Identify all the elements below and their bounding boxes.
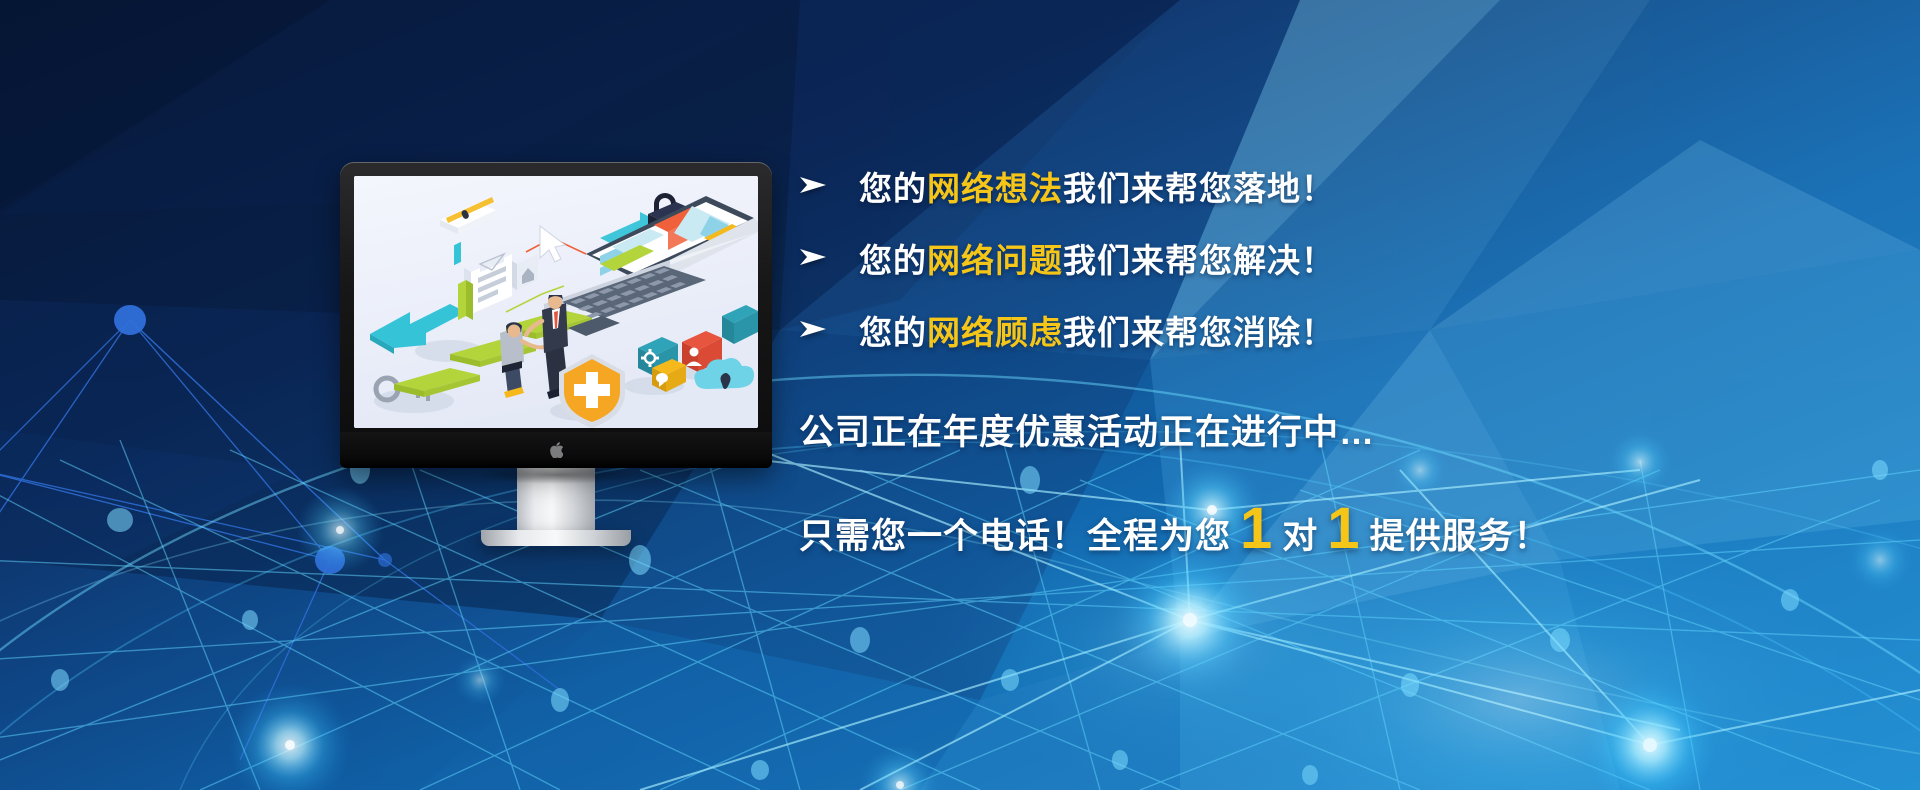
promo-line-2: 只需您一个电话！全程为您 1 对 1 提供服务！ [799, 503, 1835, 559]
arrow-right-icon [795, 173, 835, 199]
bullet-row-2: 您的网络问题我们来帮您解决！ [795, 222, 1835, 294]
promo-line-1: 公司正在年度优惠活动正在进行中… [799, 404, 1835, 455]
imac-monitor [340, 162, 772, 546]
monitor-foot [481, 530, 631, 546]
bullet-text-2: 您的网络问题我们来帮您解决！ [859, 234, 1335, 282]
monitor-bezel [340, 162, 772, 468]
bullet-prefix-3: 您的 [859, 314, 927, 351]
bullet-prefix-1: 您的 [859, 170, 927, 207]
bullet-suffix-2: 我们来帮您解决！ [1063, 242, 1335, 279]
bullet-text-3: 您的网络顾虑我们来帮您消除！ [859, 306, 1335, 354]
bullet-text-1: 您的网络想法我们来帮您落地！ [859, 162, 1335, 210]
bullet-highlight-1: 网络想法 [927, 170, 1063, 207]
monitor-chin [340, 432, 772, 468]
bullet-prefix-2: 您的 [859, 242, 927, 279]
bullet-row-1: 您的网络想法我们来帮您落地！ [795, 150, 1835, 222]
bullet-suffix-1: 我们来帮您落地！ [1063, 170, 1335, 207]
promo-separator-word: 对 [1282, 508, 1318, 559]
monitor-screen [354, 176, 758, 428]
arrow-right-icon [795, 245, 835, 271]
promo-banner: 您的网络想法我们来帮您落地！ 您的网络问题我们来帮您解决！ 您的网络顾虑我们来帮… [0, 0, 1920, 790]
bullet-suffix-3: 我们来帮您消除！ [1063, 314, 1335, 351]
apple-logo-icon [550, 442, 563, 458]
promo-number-1: 1 [1231, 503, 1282, 555]
isometric-illustration [354, 176, 758, 428]
promo-number-2: 1 [1318, 503, 1369, 555]
bullet-row-3: 您的网络顾虑我们来帮您消除！ [795, 294, 1835, 366]
marketing-copy: 您的网络想法我们来帮您落地！ 您的网络问题我们来帮您解决！ 您的网络顾虑我们来帮… [795, 150, 1835, 559]
bullet-highlight-3: 网络顾虑 [927, 314, 1063, 351]
bullet-highlight-2: 网络问题 [927, 242, 1063, 279]
promo-line2-part2: 提供服务！ [1370, 508, 1550, 559]
monitor-shadow [471, 466, 641, 484]
promo-line2-part1: 只需您一个电话！全程为您 [799, 508, 1231, 559]
arrow-right-icon [795, 317, 835, 343]
